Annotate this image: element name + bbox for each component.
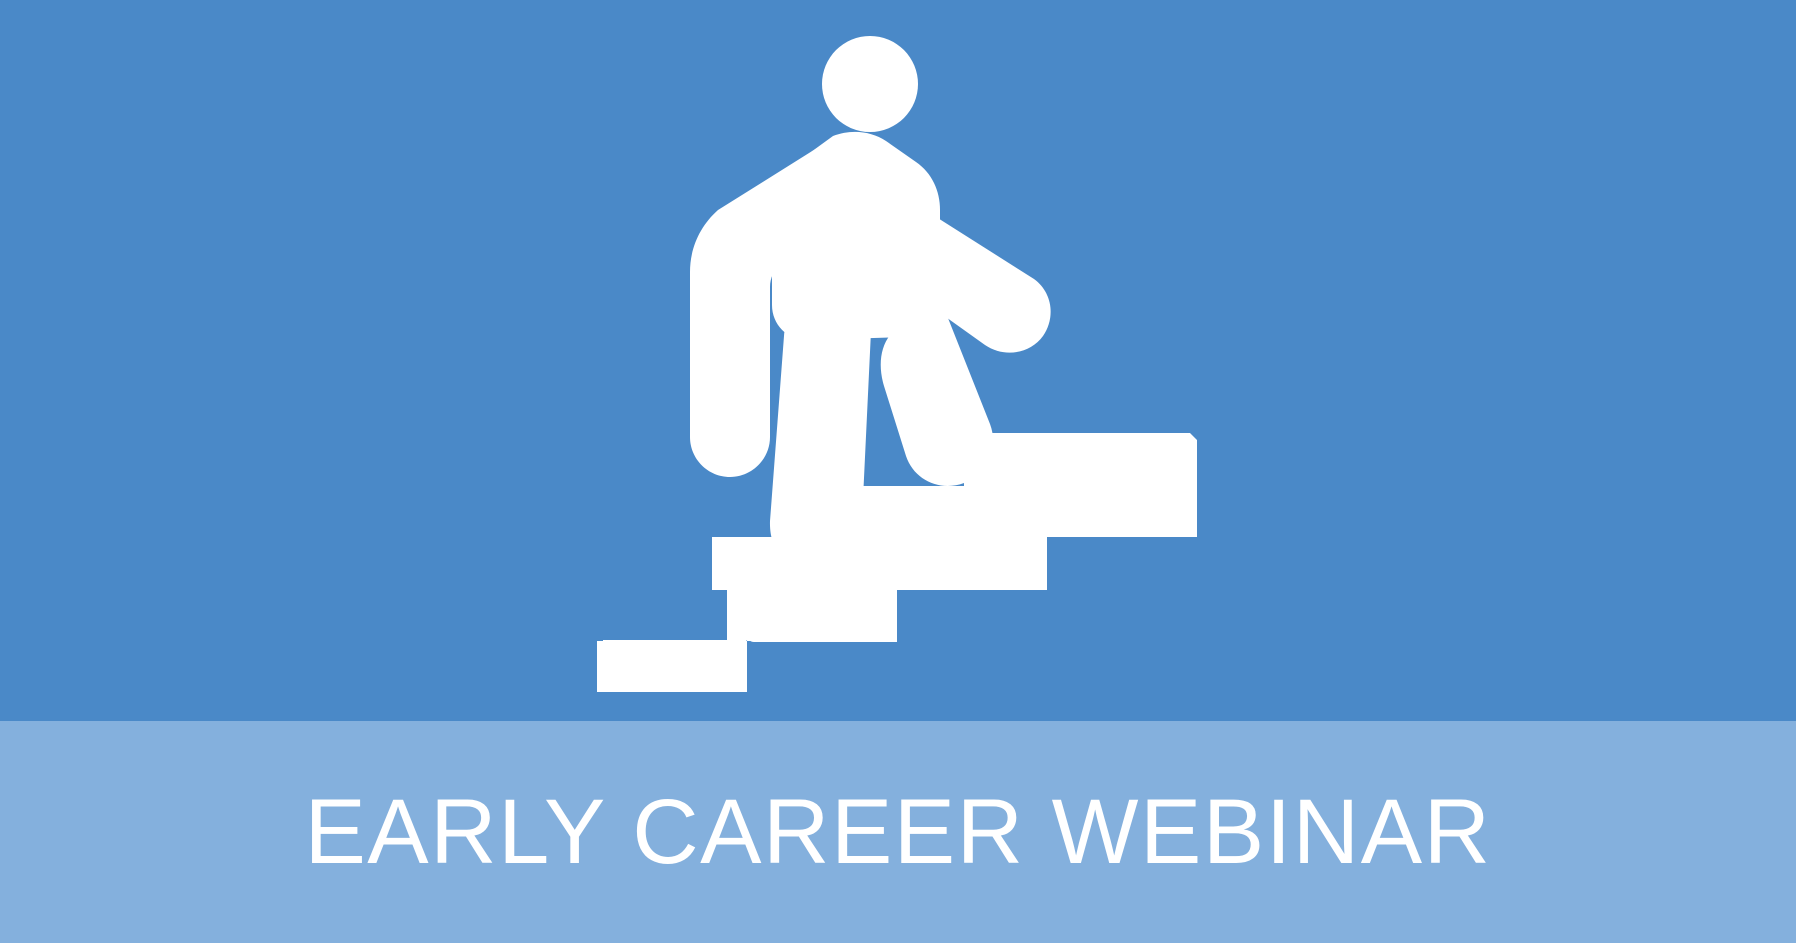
stair-riser-4 (1047, 486, 1197, 537)
stair-riser-2 (747, 590, 897, 641)
figure-head (822, 36, 918, 132)
banner-caption: EARLY CAREER WEBINAR (0, 721, 1796, 943)
stair-riser-1 (597, 641, 747, 692)
stair-riser-3 (897, 537, 1047, 590)
early-career-webinar-banner: EARLY CAREER WEBINAR (0, 0, 1796, 943)
figure-back-leg (770, 310, 872, 572)
person-climbing-stairs-icon (0, 0, 1796, 721)
